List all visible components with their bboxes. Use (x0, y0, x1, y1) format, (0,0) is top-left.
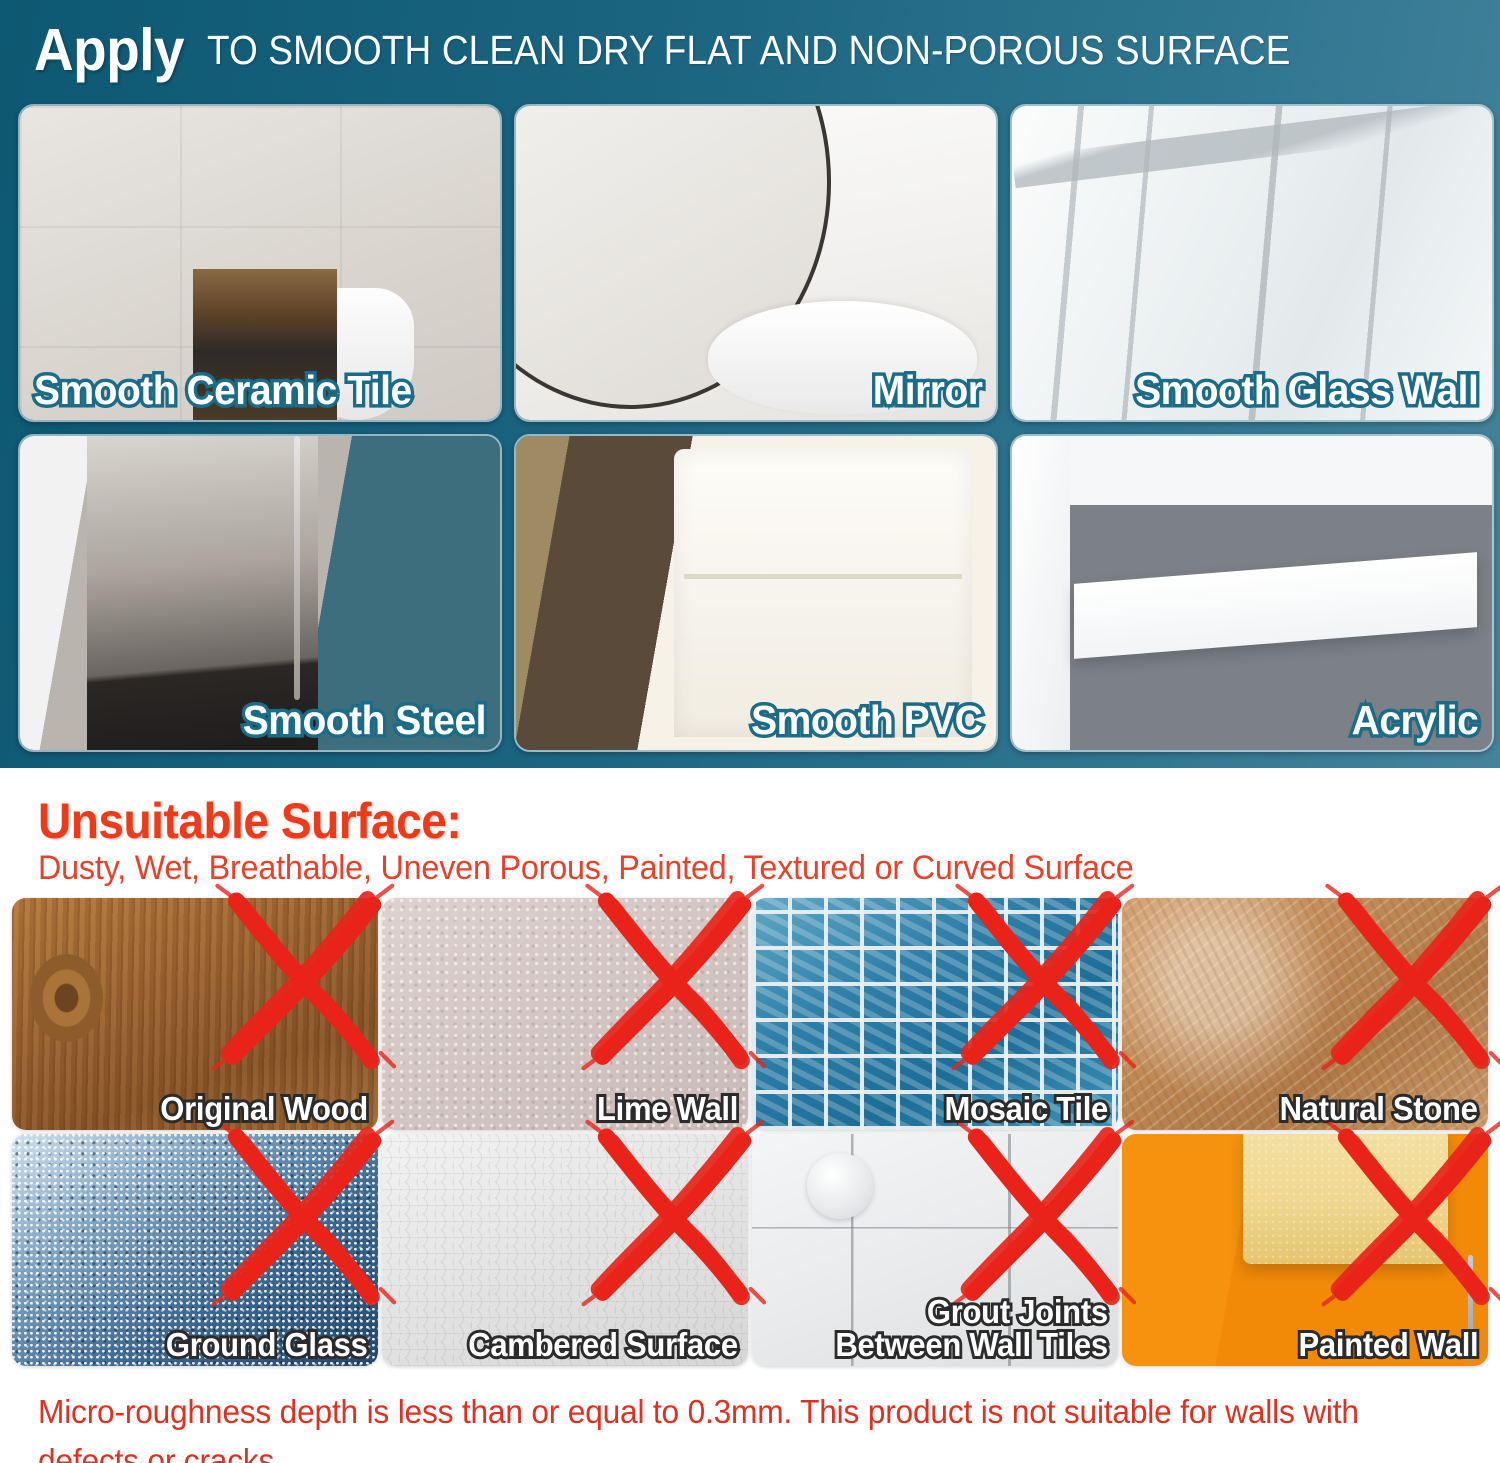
unsuitable-card: Ground Glass (12, 1134, 378, 1366)
suitable-card: Mirror (514, 104, 998, 422)
header-banner: Apply TO SMOOTH CLEAN DRY FLAT AND NON-P… (0, 0, 1500, 100)
suitable-card: Smooth PVC (514, 434, 998, 752)
unsuitable-card: Original Wood (12, 898, 378, 1130)
surface-label: Grout JointsBetween Wall Tiles (836, 1295, 1108, 1362)
unsuitable-card: Natural Stone (1122, 898, 1488, 1130)
unsuitable-card: Painted Wall (1122, 1134, 1488, 1366)
suitable-card: Smooth Steel (18, 434, 502, 752)
header-emphasis: Apply (34, 16, 184, 84)
suitable-card: Smooth Glass Wall (1010, 104, 1494, 422)
unsuitable-subtitle: Dusty, Wet, Breathable, Uneven Porous, P… (38, 849, 1133, 888)
suitable-card: Smooth Ceramic Tile (18, 104, 502, 422)
surface-label: Smooth Ceramic Tile (34, 367, 412, 414)
suitable-surfaces-section: Apply TO SMOOTH CLEAN DRY FLAT AND NON-P… (0, 0, 1500, 768)
unsuitable-card: Cambered Surface (382, 1134, 748, 1366)
suitable-surfaces-grid: Smooth Ceramic TileMirrorSmooth Glass Wa… (18, 104, 1482, 752)
surface-label: Ground Glass (166, 1328, 368, 1362)
surface-label: Smooth Steel (243, 697, 486, 744)
disclaimer-text: Micro-roughness depth is less than or eq… (38, 1388, 1401, 1463)
unsuitable-surfaces-grid: Original WoodLime WallMosaic TileNatural… (12, 898, 1488, 1373)
unsuitable-surfaces-section: Unsuitable Surface: Dusty, Wet, Breathab… (0, 768, 1500, 1463)
surface-label: Cambered Surface (468, 1328, 738, 1362)
surface-label: Mosaic Tile (944, 1092, 1108, 1126)
unsuitable-card: Grout JointsBetween Wall Tiles (752, 1134, 1118, 1366)
header-subtitle: TO SMOOTH CLEAN DRY FLAT AND NON-POROUS … (207, 27, 1291, 74)
surface-label: Natural Stone (1280, 1092, 1478, 1126)
surface-label: Smooth Glass Wall (1135, 367, 1478, 414)
surface-label: Lime Wall (597, 1092, 738, 1126)
unsuitable-title: Unsuitable Surface: (38, 792, 461, 850)
surface-label: Mirror (872, 367, 982, 414)
product-infographic: Apply TO SMOOTH CLEAN DRY FLAT AND NON-P… (0, 0, 1500, 1463)
surface-label: Acrylic (1351, 697, 1478, 744)
unsuitable-card: Lime Wall (382, 898, 748, 1130)
surface-label: Painted Wall (1298, 1328, 1478, 1362)
surface-label: Original Wood (160, 1092, 368, 1126)
suitable-card: Acrylic (1010, 434, 1494, 752)
surface-label: Smooth PVC (751, 697, 982, 744)
unsuitable-card: Mosaic Tile (752, 898, 1118, 1130)
